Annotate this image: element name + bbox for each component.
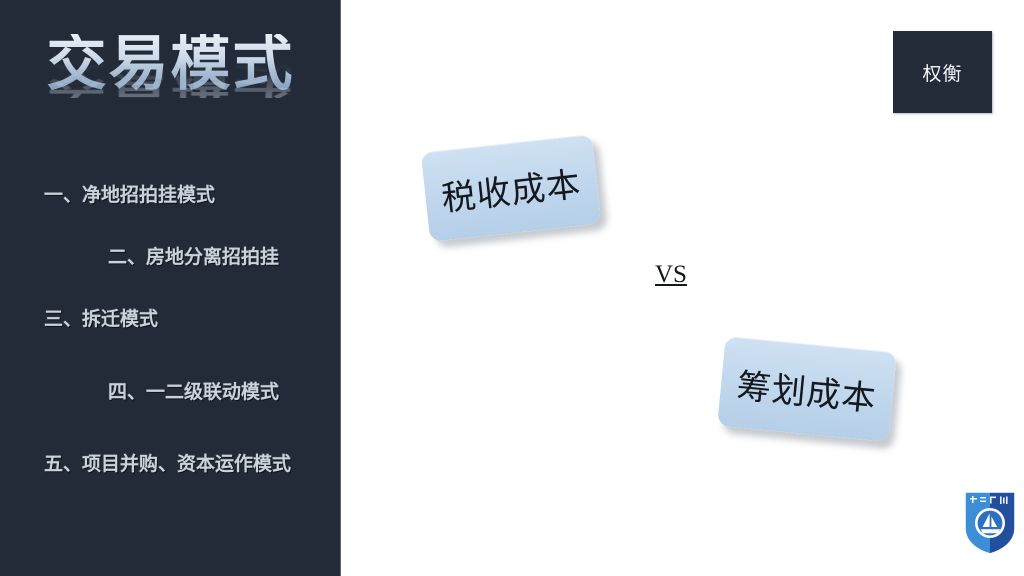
page-title-reflection: 交易模式 (0, 61, 341, 98)
versus-label: VS (655, 261, 687, 289)
weighing-label-text: 权衡 (922, 59, 962, 86)
sidebar-item-1[interactable]: 一、净地招拍挂模式 (0, 186, 341, 205)
sidebar-item-4[interactable]: 四、一二级联动模式 (0, 383, 341, 402)
banner-tax-cost-label: 税收成本 (439, 157, 583, 221)
slide-canvas: 交易模式 交易模式 一、净地招拍挂模式 二、房地分离招拍挂 三、拆迁模式 四、一… (0, 0, 1024, 576)
banner-planning-cost-label: 筹划成本 (735, 358, 879, 420)
sidebar-item-5[interactable]: 五、项目并购、资本运作模式 (0, 455, 341, 474)
banner-tax-cost: 税收成本 (421, 134, 602, 242)
sidebar-item-3[interactable]: 三、拆迁模式 (0, 310, 341, 329)
sidebar-panel: 交易模式 交易模式 一、净地招拍挂模式 二、房地分离招拍挂 三、拆迁模式 四、一… (0, 0, 341, 576)
shield-sailboat-logo (963, 490, 1017, 556)
weighing-label-box: 权衡 (893, 31, 992, 113)
banner-planning-cost: 筹划成本 (717, 336, 897, 442)
sidebar-item-2[interactable]: 二、房地分离招拍挂 (0, 248, 341, 267)
slide-title-block: 交易模式 交易模式 (0, 34, 341, 164)
sidebar-menu: 一、净地招拍挂模式 二、房地分离招拍挂 三、拆迁模式 四、一二级联动模式 五、项… (0, 168, 341, 474)
